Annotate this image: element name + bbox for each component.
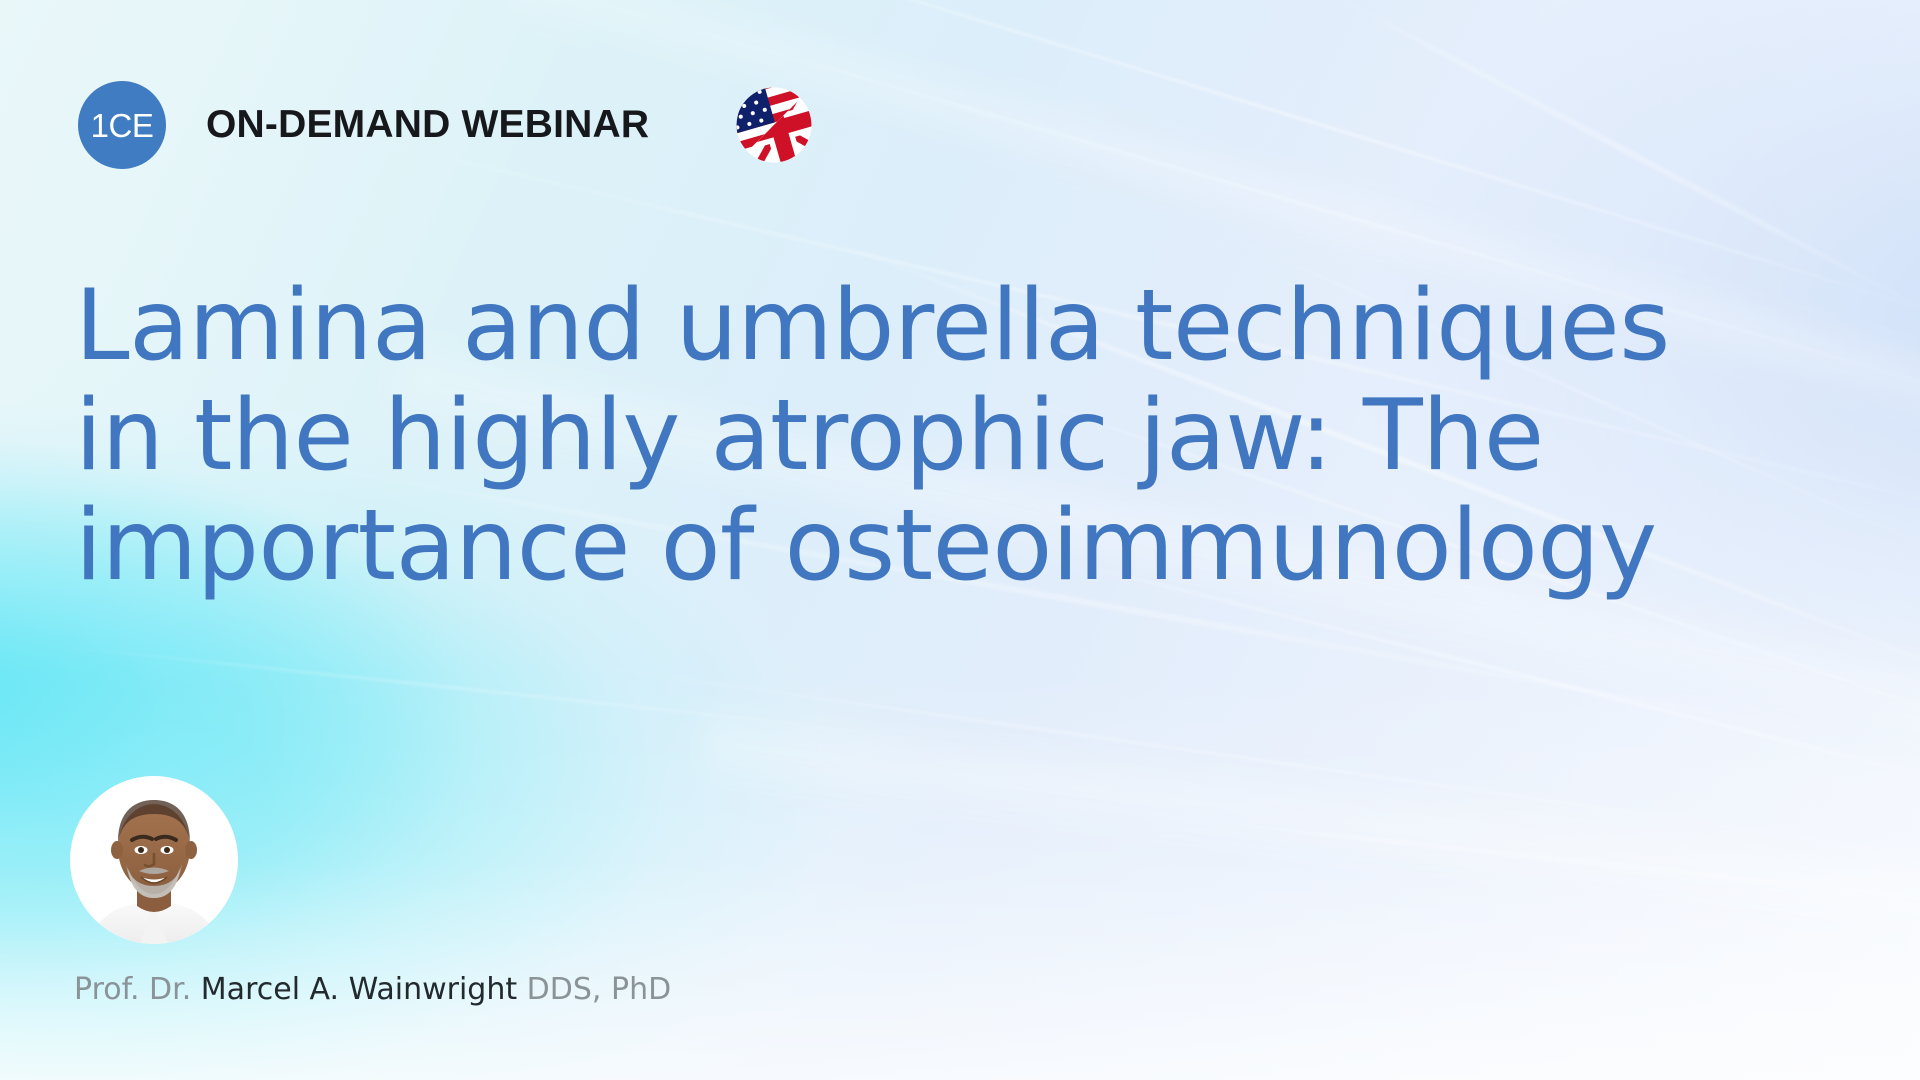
us-uk-flag-icon	[735, 86, 813, 164]
background-streak	[42, 643, 937, 740]
background-streak	[527, 656, 1920, 868]
background-band	[700, 705, 1920, 955]
ce-credit-badge: 1CE	[78, 81, 166, 169]
speaker-name: Marcel A. Wainwright	[201, 972, 517, 1007]
speaker-credentials: DDS, PhD	[517, 972, 671, 1007]
slide-header: 1CE ON-DEMAND WEBINAR	[78, 78, 813, 172]
speaker-avatar	[70, 776, 238, 944]
speaker-title-prefix: Prof. Dr.	[74, 972, 201, 1007]
webinar-type-label: ON-DEMAND WEBINAR	[206, 103, 649, 147]
ce-credit-badge-label: 1CE	[91, 109, 154, 142]
background-streak	[1182, 817, 1920, 908]
webinar-title-slide: 1CE ON-DEMAND WEBINAR	[0, 0, 1920, 1080]
speaker-name-line: Prof. Dr. Marcel A. Wainwright DDS, PhD	[74, 975, 671, 1005]
webinar-title: Lamina and umbrella techniques in the hi…	[75, 272, 1775, 601]
